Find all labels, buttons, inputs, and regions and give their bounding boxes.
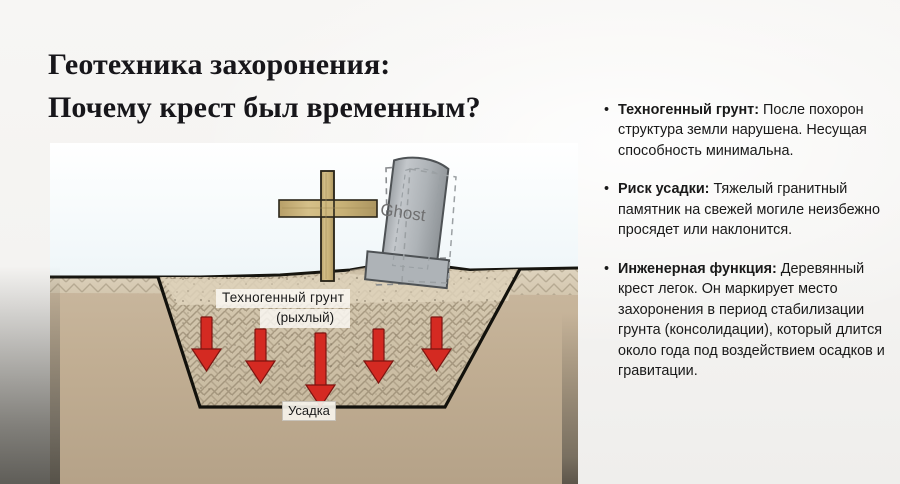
bullet-lead: Инженерная функция: [618,261,777,277]
wooden-cross [279,171,377,281]
bullet-marker-icon: • [604,259,609,279]
label-settlement: Усадка [282,401,336,421]
cross-section-illustration: Техногенный грунт (рыхлый) Усадка Ghost [50,143,578,484]
page-title-line-1: Геотехника захоронения: [48,44,588,87]
list-item: • Инженерная функция: Деревянный крест л… [604,259,894,382]
bullet-lead: Риск усадки: [618,181,709,197]
slide-canvas: Геотехника захоронения: Почему крест был… [0,0,900,484]
page-title-line-2: Почему крест был временным? [48,87,588,130]
bullet-lead: Техногенный грунт: [618,102,759,118]
label-backfill-soil-line2: (рыхлый) [260,309,350,328]
label-backfill-soil: Техногенный грунт (рыхлый) [216,289,350,328]
list-item: • Риск усадки: Тяжелый гранитный памятни… [604,179,894,240]
bullet-marker-icon: • [604,100,609,120]
bullet-text: Деревянный крест легок. Он маркирует мес… [618,261,885,379]
page-title: Геотехника захоронения: Почему крест был… [48,44,588,129]
bullet-marker-icon: • [604,179,609,199]
label-backfill-soil-line1: Техногенный грунт [216,289,350,308]
bullet-list: • Техногенный грунт: После похорон струк… [604,100,894,399]
list-item: • Техногенный грунт: После похорон струк… [604,100,894,161]
